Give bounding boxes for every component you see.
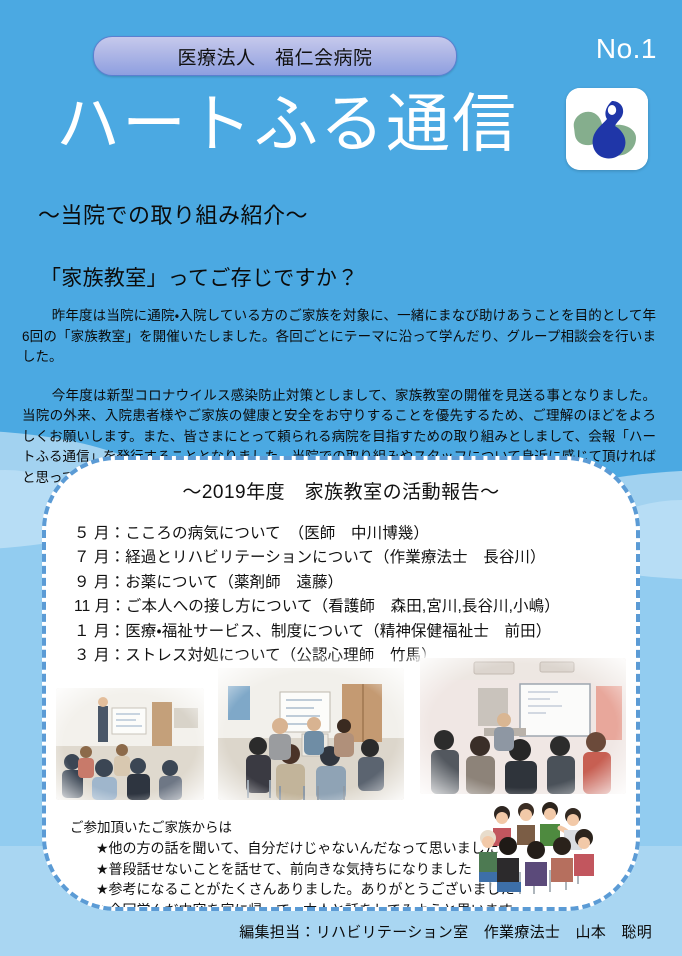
- feedback-list: ★他の方の話を聞いて、自分だけじゃないんだなって思いました ★普段話せないことを…: [70, 838, 510, 911]
- list-item: ★参考になることがたくさんありました。ありがとうございました: [96, 879, 510, 900]
- intro-paragraph-1: 昨年度は当院に通院・入院している方のご家族を対象に、一緒にまなび助けあうことを目…: [22, 306, 656, 368]
- photo-gallery: [46, 650, 636, 810]
- family-class-photo-2: [218, 668, 404, 800]
- list-item: ★今回学んだ内容を家に帰って、本人と話をしてみようと思います: [96, 900, 510, 911]
- intro-section: 〜当院での取り組み紹介〜 「家族教室」ってご存じですか？ 昨年度は当院に通院・入…: [0, 190, 682, 488]
- list-item: ★普段話せないことを話せて、前向きな気持ちになりました: [96, 859, 510, 880]
- list-item: ５ 月：こころの病気について （医師 中川博幾）: [74, 522, 636, 546]
- activity-schedule-list: ５ 月：こころの病気について （医師 中川博幾） ７ 月：経過とリハビリテーショ…: [74, 522, 636, 669]
- newsletter-page: 医療法人 福仁会病院 No.1 ハートふる通信 〜当院での取り組み紹介〜 「家族…: [0, 0, 682, 956]
- family-class-photo-1: [56, 688, 204, 800]
- feedback-lead-text: ご参加頂いたご家族からは: [70, 816, 510, 836]
- list-item: 11 月：ご本人への接し方について（看護師 森田,宮川,長谷川,小嶋）: [74, 595, 636, 619]
- activity-report-title: 〜2019年度 家族教室の活動報告〜: [46, 477, 636, 504]
- family-class-photo-3: [420, 658, 626, 794]
- section-heading: 〜当院での取り組み紹介〜: [38, 190, 682, 230]
- list-item: １ 月：医療・福祉サービス、制度について（精神保健福祉士 前田）: [74, 620, 636, 644]
- editor-credit: 編集担当：リハビリテーション室 作業療法士 山本 聡明: [0, 921, 652, 942]
- page-title: ハートふる通信: [56, 92, 518, 156]
- list-item: ★他の方の話を聞いて、自分だけじゃないんだなって思いました: [96, 838, 510, 859]
- list-item: ９ 月：お薬について（薬剤師 遠藤）: [74, 571, 636, 595]
- hospital-bird-logo-icon: [566, 88, 648, 170]
- activity-report-panel: 〜2019年度 家族教室の活動報告〜 ５ 月：こころの病気について （医師 中川…: [42, 456, 640, 911]
- list-item: ７ 月：経過とリハビリテーションについて（作業療法士 長谷川）: [74, 546, 636, 570]
- issue-number: No.1: [596, 33, 657, 65]
- organization-name: 医療法人 福仁会病院: [177, 43, 372, 70]
- group-discussion-clipart-icon: [474, 798, 600, 902]
- participant-feedback: ご参加頂いたご家族からは ★他の方の話を聞いて、自分だけじゃないんだなって思いま…: [70, 816, 510, 911]
- sub-heading: 「家族教室」ってご存じですか？: [40, 262, 682, 292]
- page-header: 医療法人 福仁会病院 No.1 ハートふる通信: [0, 0, 682, 190]
- organization-badge: 医療法人 福仁会病院: [93, 36, 457, 76]
